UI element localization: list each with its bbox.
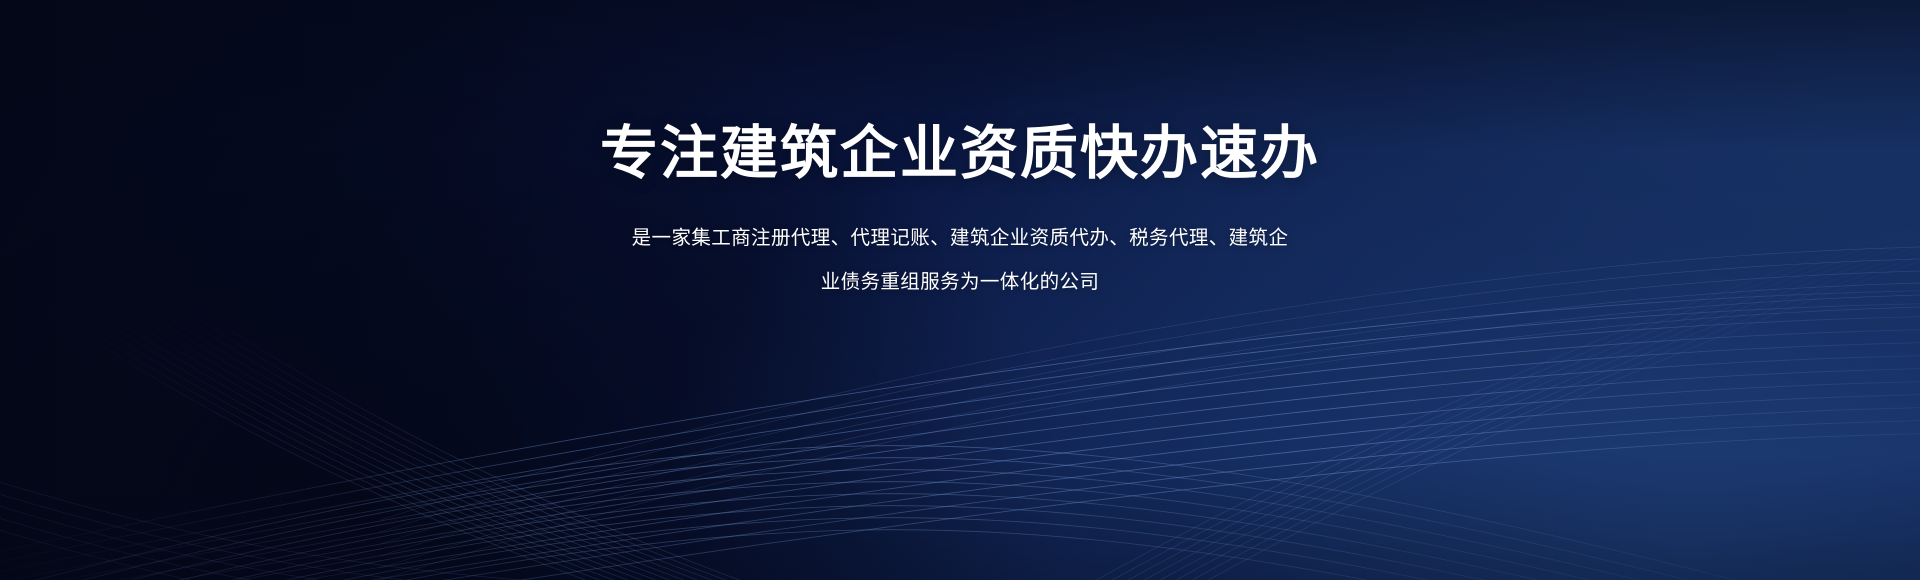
banner-subtitle: 是一家集工商注册代理、代理记账、建筑企业资质代办、税务代理、建筑企 业债务重组服… [520, 187, 1400, 305]
banner-subtitle-line-1: 是一家集工商注册代理、代理记账、建筑企业资质代办、税务代理、建筑企 [520, 217, 1400, 261]
hero-banner: 专注建筑企业资质快办速办 是一家集工商注册代理、代理记账、建筑企业资质代办、税务… [0, 0, 1920, 580]
banner-headline: 专注建筑企业资质快办速办 [600, 122, 1320, 187]
banner-subtitle-line-2: 业债务重组服务为一体化的公司 [520, 261, 1400, 305]
banner-content: 专注建筑企业资质快办速办 是一家集工商注册代理、代理记账、建筑企业资质代办、税务… [0, 0, 1920, 580]
